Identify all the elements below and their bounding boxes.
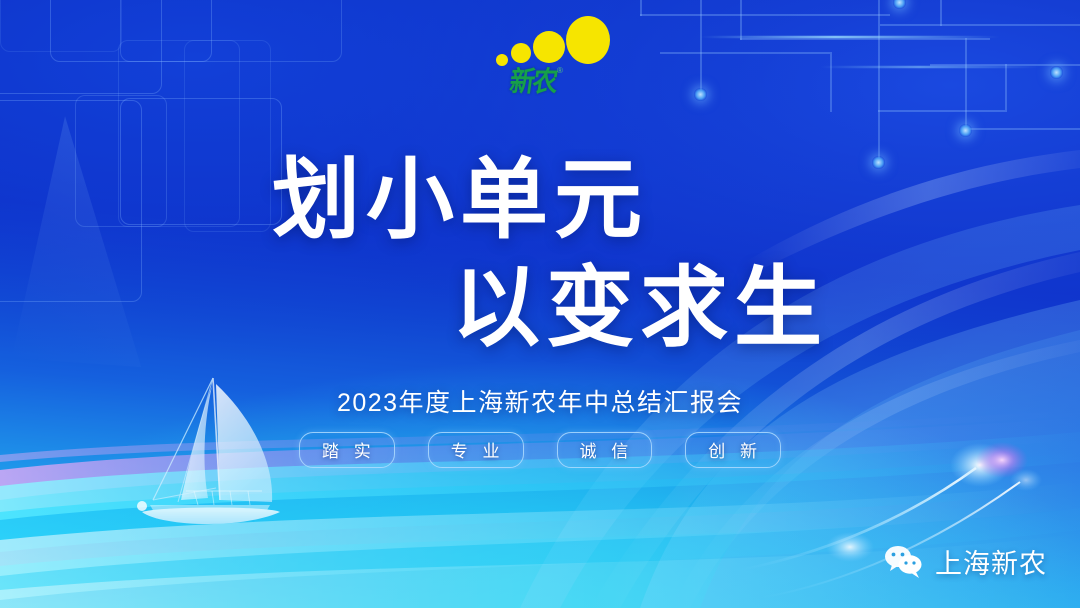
- logo-trademark-icon: ®: [557, 66, 563, 75]
- circuit-line: [965, 128, 1080, 130]
- circuit-glow-streak: [700, 36, 1000, 38]
- circuit-line: [740, 0, 742, 40]
- value-tag: 诚 信: [557, 432, 653, 468]
- page-title: 划小单元 以变求生: [0, 148, 1080, 364]
- value-tags: 踏 实 专 业 诚 信 创 新: [0, 432, 1080, 468]
- circuit-line: [880, 24, 1080, 26]
- subtitle: 2023年度上海新农年中总结汇报会: [0, 383, 1080, 419]
- circuit-node-dot: [694, 88, 707, 101]
- watermark-label: 上海新农: [935, 542, 1047, 581]
- wechat-icon: [884, 545, 924, 579]
- value-tag: 专 业: [428, 432, 524, 468]
- watermark: 上海新农: [884, 542, 1047, 581]
- circuit-line: [965, 38, 967, 130]
- logo-dot-3: [533, 31, 565, 63]
- circuit-line: [700, 0, 702, 92]
- circuit-line: [878, 0, 880, 112]
- headline-line-2: 以变求生: [0, 256, 1080, 364]
- logo-dot-4: [566, 16, 610, 64]
- circuit-line: [830, 52, 832, 112]
- circuit-line: [640, 0, 642, 16]
- circuit-node-dot: [1050, 66, 1063, 79]
- circuit-node-dot: [959, 124, 972, 137]
- logo-dot-1: [496, 54, 508, 66]
- circuit-line: [640, 14, 890, 16]
- value-tag: 创 新: [685, 432, 781, 468]
- circuit-line: [740, 38, 990, 40]
- circuit-glow-streak: [820, 66, 1040, 68]
- logo-dot-2: [511, 43, 531, 63]
- decor-square: [0, 0, 122, 52]
- circuit-line: [1005, 64, 1007, 112]
- brand-logo: 新农 ®: [494, 14, 614, 96]
- value-tag: 踏 实: [299, 432, 395, 468]
- poster-canvas: 新农 ® 划小单元 以变求生 2023年度上海新农年中总结汇报会 踏 实 专 业…: [0, 0, 1080, 608]
- circuit-line: [880, 110, 1005, 112]
- headline-line-1: 划小单元: [0, 148, 1080, 256]
- circuit-line: [660, 52, 830, 54]
- logo-wordmark: 新农: [508, 68, 558, 96]
- circuit-line: [940, 0, 942, 26]
